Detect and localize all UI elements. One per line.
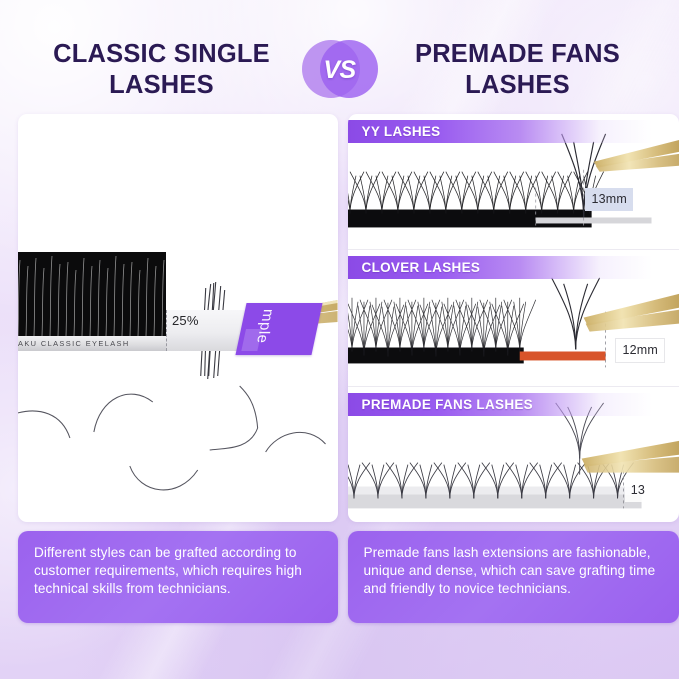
lash-tray-base: AKU CLASSIC EYELASH <box>18 336 166 351</box>
right-panel-title: PREMADE FANS LASHES <box>379 39 657 101</box>
yy-fan-row <box>348 172 604 214</box>
tray-brand-text: AKU CLASSIC EYELASH <box>18 339 130 348</box>
panels-container: AKU CLASSIC EYELASH 25% mple Different s… <box>0 114 679 623</box>
measurement-badge-yy: 13mm <box>585 188 633 211</box>
held-clover-fan <box>551 278 599 350</box>
sample-tag-text: mple <box>253 309 277 344</box>
section-label-text: CLOVER LASHES <box>348 260 481 275</box>
section-label-premade-fans: PREMADE FANS LASHES <box>348 393 679 416</box>
section-label-text: PREMADE FANS LASHES <box>348 397 533 412</box>
left-column: AKU CLASSIC EYELASH 25% mple Different s… <box>18 114 338 623</box>
lash-tray-group: AKU CLASSIC EYELASH 25% mple <box>18 114 338 522</box>
tweezer-icon <box>593 140 679 172</box>
measurement-badge-premade: 13 <box>625 479 651 502</box>
clover-orange-strip <box>519 352 605 361</box>
tray-lash-texture-icon <box>18 252 166 336</box>
section-label-clover-lashes: CLOVER LASHES <box>348 256 679 279</box>
classic-single-lashes-image-card: AKU CLASSIC EYELASH 25% mple <box>18 114 338 522</box>
comparison-infographic: CLASSIC SINGLE LASHES VS PREMADE FANS LA… <box>0 0 679 679</box>
premade-fans-image-card: YY LASHES <box>348 114 679 522</box>
measurement-badge-clover: 12mm <box>615 338 665 363</box>
tweezer-icon <box>583 294 679 332</box>
vs-label: VS <box>323 56 355 85</box>
section-label-yy-lashes: YY LASHES <box>348 120 679 143</box>
header: CLASSIC SINGLE LASHES VS PREMADE FANS LA… <box>0 30 679 110</box>
right-panel-description: Premade fans lash extensions are fashion… <box>348 531 679 623</box>
lash-tray-black-strip <box>18 252 166 336</box>
section-premade-fans-lashes: PREMADE FANS LASHES <box>348 386 679 522</box>
section-clover-lashes: CLOVER LASHES <box>348 249 679 385</box>
sample-tag: mple <box>235 303 322 355</box>
tweezer-icon <box>581 440 679 472</box>
section-label-text: YY LASHES <box>348 124 441 139</box>
section-yy-lashes: YY LASHES <box>348 114 679 249</box>
left-panel-description: Different styles can be grafted accordin… <box>18 531 338 623</box>
right-column: YY LASHES <box>348 114 679 623</box>
percent-label: 25% <box>172 313 199 328</box>
vs-badge: VS <box>301 34 379 106</box>
left-panel-title: CLASSIC SINGLE LASHES <box>23 39 301 101</box>
